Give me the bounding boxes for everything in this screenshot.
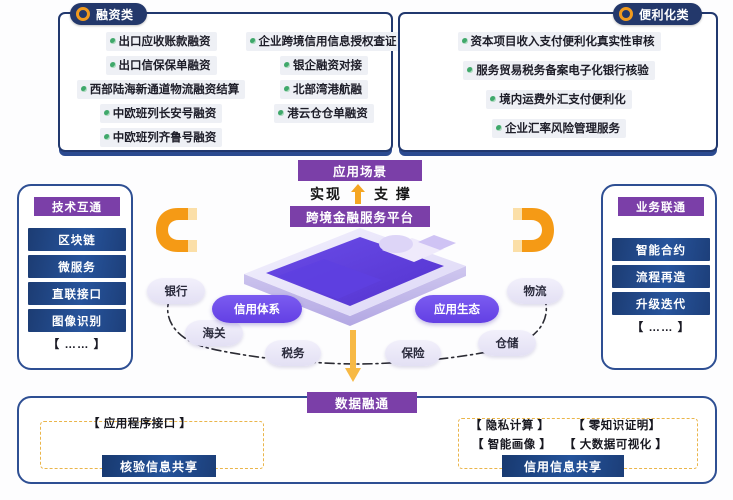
bullet-dot-icon: [110, 62, 116, 68]
list-item[interactable]: 资本项目收入支付便利化真实性审核: [408, 32, 710, 51]
bubble-label: 银行: [165, 283, 188, 299]
support-label: 支 撑: [374, 184, 412, 204]
infographic-canvas: 融资类 出口应收账款融资 出口信保保单融资 西部陆海新通道物流融资结算 中欧班列…: [0, 0, 733, 500]
list-item-label: 资本项目收入支付便利化真实性审核: [471, 33, 655, 49]
bubble-label: 保险: [402, 345, 425, 361]
list-item-label: 出口应收账款融资: [119, 33, 211, 49]
list-item-label: 企业跨境信用信息授权查证: [259, 33, 397, 49]
bubble-label: 信用体系: [234, 301, 280, 317]
list-item-label: 银企融资对接: [293, 57, 362, 73]
panel-financing-badge: 融资类: [70, 3, 147, 25]
down-arrow-icon: [345, 330, 361, 382]
panel-business-connectivity: 业务联通 智能合约 流程再造 升级迭代 【 …… 】: [601, 184, 717, 370]
list-item-label: 境内运费外汇支付便利化: [499, 91, 626, 107]
list-item[interactable]: 服务贸易税务备案电子化银行核验: [408, 61, 710, 80]
bubble-warehousing[interactable]: 仓储: [478, 330, 536, 356]
realize-support-row: 实现 支 撑: [286, 182, 436, 206]
technology-items: 区块链 微服务 直联接口 图像识别 【 …… 】: [28, 228, 126, 352]
tag-privacy-computing[interactable]: 【 隐私计算 】: [470, 417, 549, 433]
business-items-more: 【 …… 】: [612, 319, 710, 335]
bubble-tax[interactable]: 税务: [265, 340, 321, 366]
list-item[interactable]: 银企融资对接: [256, 56, 392, 75]
bubble-label: 税务: [282, 345, 305, 361]
list-item[interactable]: 西部陆海新通道物流融资结算: [66, 80, 256, 99]
panel-financing-badge-label: 融资类: [96, 6, 134, 23]
panel-technology-interop: 技术互通 区块链 微服务 直联接口 图像识别 【 …… 】: [17, 184, 133, 370]
panel-convenience-badge: 便利化类: [613, 3, 702, 25]
financing-left-list: 出口应收账款融资 出口信保保单融资 西部陆海新通道物流融资结算 中欧班列长安号融…: [66, 32, 256, 152]
bullet-dot-icon: [496, 125, 502, 131]
tech-items-more: 【 …… 】: [28, 336, 126, 352]
tech-item-direct-interface[interactable]: 直联接口: [28, 282, 126, 305]
panel-technology-interop-title: 技术互通: [34, 197, 120, 216]
list-item-label: 企业汇率风险管理服务: [505, 120, 620, 136]
data-integration-title: 数据融通: [307, 392, 417, 413]
bubble-label: 应用生态: [434, 301, 480, 317]
bubble-label: 物流: [524, 283, 547, 299]
bullet-dot-icon: [104, 110, 110, 116]
bubble-label: 海关: [203, 325, 226, 341]
business-item-smart-contract[interactable]: 智能合约: [612, 238, 710, 261]
list-item[interactable]: 北部湾港航融: [256, 80, 392, 99]
bullet-dot-icon: [250, 38, 256, 44]
list-item[interactable]: 出口应收账款融资: [66, 32, 256, 51]
magnet-icon: [510, 200, 562, 260]
tech-item-microservice[interactable]: 微服务: [28, 255, 126, 278]
bullet-dot-icon: [284, 62, 290, 68]
list-item[interactable]: 企业汇率风险管理服务: [408, 119, 710, 138]
bubble-logistics[interactable]: 物流: [507, 278, 563, 304]
bubble-insurance[interactable]: 保险: [385, 340, 441, 366]
bubble-customs[interactable]: 海关: [185, 320, 243, 346]
realize-label: 实现: [310, 184, 342, 204]
bullet-dot-icon: [462, 38, 468, 44]
bullet-dot-icon: [278, 110, 284, 116]
panel-convenience: 便利化类 资本项目收入支付便利化真实性审核 服务贸易税务备案电子化银行核验 境内…: [398, 12, 718, 152]
list-item-label: 北部湾港航融: [293, 81, 362, 97]
bubble-credit-system[interactable]: 信用体系: [212, 295, 302, 323]
panel-financing: 融资类 出口应收账款融资 出口信保保单融资 西部陆海新通道物流融资结算 中欧班列…: [58, 12, 393, 152]
application-scenario-label: 应用场景: [298, 160, 422, 181]
tag-api[interactable]: 【 应用程序接口 】: [88, 415, 191, 431]
list-item-label: 港云仓仓单融资: [287, 105, 368, 121]
list-item[interactable]: 中欧班列长安号融资: [66, 104, 256, 123]
panel-convenience-badge-label: 便利化类: [639, 6, 689, 23]
business-items: 智能合约 流程再造 升级迭代 【 …… 】: [612, 238, 710, 335]
list-item[interactable]: 境内运费外汇支付便利化: [408, 90, 710, 109]
credit-info-sharing-button[interactable]: 信用信息共享: [502, 455, 624, 477]
financing-right-list: 企业跨境信用信息授权查证 银企融资对接 北部湾港航融 港云仓仓单融资: [256, 32, 392, 128]
bubble-bank[interactable]: 银行: [147, 278, 205, 304]
bullet-dot-icon: [110, 38, 116, 44]
list-item[interactable]: 港云仓仓单融资: [256, 104, 392, 123]
tag-bigdata-visualization[interactable]: 【 大数据可视化 】: [564, 436, 667, 452]
bullet-dot-icon: [104, 134, 110, 140]
magnet-icon: [148, 200, 200, 260]
bubble-label: 仓储: [496, 335, 519, 351]
tech-item-blockchain[interactable]: 区块链: [28, 228, 126, 251]
tag-zero-knowledge-proof[interactable]: 【 零知识证明】: [573, 417, 661, 433]
tech-item-image-recognition[interactable]: 图像识别: [28, 309, 126, 332]
list-item[interactable]: 中欧班列齐鲁号融资: [66, 128, 256, 147]
business-item-upgrade-iteration[interactable]: 升级迭代: [612, 292, 710, 315]
list-item[interactable]: 企业跨境信用信息授权查证: [256, 32, 392, 51]
bullet-dot-icon: [467, 67, 473, 73]
list-item-label: 服务贸易税务备案电子化银行核验: [476, 62, 649, 78]
list-item-label: 中欧班列齐鲁号融资: [113, 129, 217, 145]
up-arrow-icon: [351, 184, 365, 204]
bullet-dot-icon: [81, 86, 87, 92]
convenience-list: 资本项目收入支付便利化真实性审核 服务贸易税务备案电子化银行核验 境内运费外汇支…: [408, 32, 710, 148]
bullet-dot-icon: [284, 86, 290, 92]
list-item-label: 中欧班列长安号融资: [113, 105, 217, 121]
ring-circle-icon: [619, 7, 633, 21]
tag-smart-portrait[interactable]: 【 智能画像 】: [472, 436, 551, 452]
ring-circle-icon: [76, 7, 90, 21]
verification-info-sharing-button[interactable]: 核验信息共享: [102, 455, 216, 477]
list-item-label: 西部陆海新通道物流融资结算: [90, 81, 240, 97]
bullet-dot-icon: [490, 96, 496, 102]
business-item-process-reengineering[interactable]: 流程再造: [612, 265, 710, 288]
bubble-application-ecosystem[interactable]: 应用生态: [415, 295, 499, 323]
list-item[interactable]: 出口信保保单融资: [66, 56, 256, 75]
panel-business-connectivity-title: 业务联通: [618, 197, 704, 216]
list-item-label: 出口信保保单融资: [119, 57, 211, 73]
